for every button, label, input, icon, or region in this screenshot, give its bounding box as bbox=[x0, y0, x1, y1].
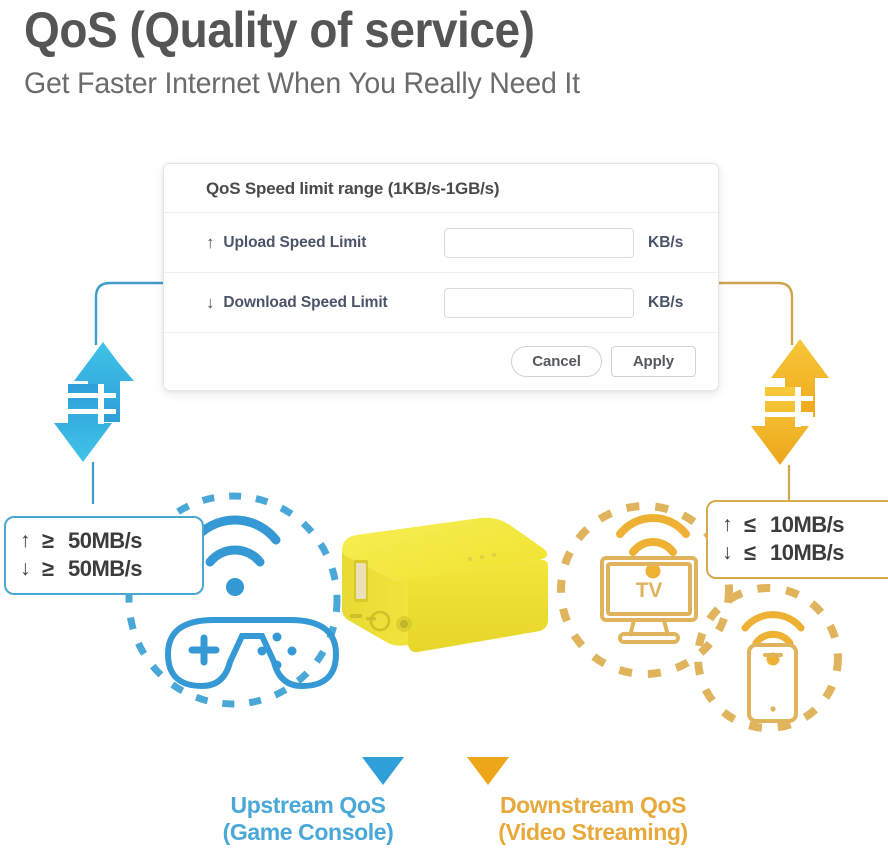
badge-value-download: 10MB/s bbox=[770, 539, 844, 567]
upload-speed-input[interactable] bbox=[444, 228, 634, 258]
upload-speed-label: Upload Speed Limit bbox=[223, 234, 366, 252]
comparator-icon: ≤ bbox=[744, 511, 770, 539]
badge-line-upload: ↑ ≤ 10MB/s bbox=[722, 511, 888, 539]
comparator-icon: ≥ bbox=[42, 555, 68, 583]
dialog-footer: Cancel Apply bbox=[164, 332, 718, 390]
arrow-up-icon: ↑ bbox=[722, 512, 744, 539]
upload-speed-row: ↑ Upload Speed Limit KB/s bbox=[164, 213, 718, 272]
badge-value-upload: 10MB/s bbox=[770, 511, 844, 539]
tv-screen-label: TV bbox=[636, 579, 663, 602]
badge-line-upload: ↑ ≥ 50MB/s bbox=[20, 527, 188, 555]
download-speed-label-group: ↓ Download Speed Limit bbox=[206, 294, 444, 312]
wifi-icon-game bbox=[194, 520, 276, 596]
router-device bbox=[330, 516, 558, 661]
upload-speed-label-group: ↑ Upload Speed Limit bbox=[206, 234, 444, 252]
comparator-icon: ≥ bbox=[42, 527, 68, 555]
arrow-up-icon: ↑ bbox=[206, 234, 214, 251]
download-speed-input[interactable] bbox=[444, 288, 634, 318]
qos-speed-limit-dialog: QoS Speed limit range (1KB/s-1GB/s) ↑ Up… bbox=[163, 163, 719, 391]
apply-button[interactable]: Apply bbox=[611, 346, 696, 377]
download-speed-label: Download Speed Limit bbox=[223, 294, 387, 312]
arrow-down-icon: ↓ bbox=[206, 294, 214, 311]
download-speed-row: ↓ Download Speed Limit KB/s bbox=[164, 272, 718, 332]
downstream-speed-badge: ↑ ≤ 10MB/s ↓ ≤ 10MB/s bbox=[706, 500, 888, 579]
upstream-speed-badge: ↑ ≥ 50MB/s ↓ ≥ 50MB/s bbox=[4, 516, 204, 595]
comparator-icon: ≤ bbox=[744, 539, 770, 567]
smartphone-icon bbox=[749, 645, 796, 721]
badge-value-download: 50MB/s bbox=[68, 555, 142, 583]
badge-line-download: ↓ ≥ 50MB/s bbox=[20, 555, 188, 583]
device-icons: TV bbox=[0, 0, 888, 859]
upload-speed-unit: KB/s bbox=[648, 234, 683, 252]
arrow-up-icon: ↑ bbox=[20, 528, 42, 555]
cancel-button[interactable]: Cancel bbox=[511, 346, 602, 377]
gamepad-icon bbox=[168, 620, 336, 686]
arrow-down-icon: ↓ bbox=[722, 540, 744, 567]
wifi-icon-tv bbox=[620, 518, 686, 579]
badge-line-download: ↓ ≤ 10MB/s bbox=[722, 539, 888, 567]
arrow-down-icon: ↓ bbox=[20, 556, 42, 583]
badge-value-upload: 50MB/s bbox=[68, 527, 142, 555]
download-speed-unit: KB/s bbox=[648, 294, 683, 312]
dialog-title: QoS Speed limit range (1KB/s-1GB/s) bbox=[164, 164, 718, 213]
wifi-icon-phone bbox=[745, 615, 801, 666]
